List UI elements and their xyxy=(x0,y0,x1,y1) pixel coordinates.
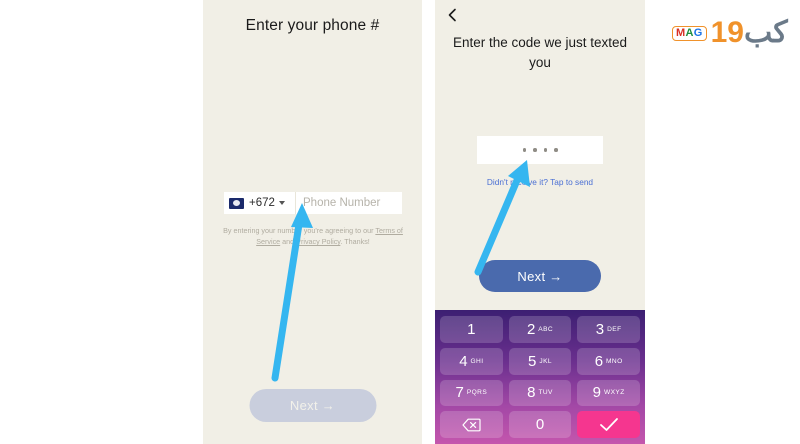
wordmark: کب19 xyxy=(711,18,788,48)
legal-text-part-1: By entering your number you're agreeing … xyxy=(223,226,375,235)
phone-next-button[interactable]: Next → xyxy=(249,389,376,422)
key-letters: WXYZ xyxy=(604,389,625,396)
keypad-backspace-key[interactable] xyxy=(440,411,503,438)
mag-letter-g: G xyxy=(694,27,703,39)
key-digit: 6 xyxy=(595,353,603,370)
numeric-keypad: 1 2 ABC 3 DEF 4 GHI 5 JKL 6 MNO 7 PQRS 8… xyxy=(435,310,645,444)
country-code-selector[interactable]: +672 xyxy=(224,192,296,214)
checkmark-icon xyxy=(599,417,619,432)
verification-code-input[interactable] xyxy=(477,136,603,164)
legal-text-part-3: . Thanks! xyxy=(340,237,369,246)
keypad-key-8[interactable]: 8 TUV xyxy=(509,380,572,407)
key-digit: 9 xyxy=(593,384,601,401)
keypad-confirm-key[interactable] xyxy=(577,411,640,438)
legal-disclaimer: By entering your number you're agreeing … xyxy=(221,225,405,247)
key-letters: ABC xyxy=(538,326,553,333)
keypad-key-4[interactable]: 4 GHI xyxy=(440,348,503,375)
mag-letter-a: A xyxy=(685,27,693,39)
key-letters: PQRS xyxy=(467,389,487,396)
code-next-button[interactable]: Next → xyxy=(479,260,601,292)
keypad-key-1[interactable]: 1 xyxy=(440,316,503,343)
key-letters: MNO xyxy=(606,358,623,365)
mag-badge: MAG xyxy=(672,26,707,41)
key-digit: 3 xyxy=(596,321,604,338)
keypad-key-3[interactable]: 3 DEF xyxy=(577,316,640,343)
legal-text-part-2: and xyxy=(280,237,296,246)
key-digit: 5 xyxy=(528,353,536,370)
verification-code-screen: Enter the code we just texted you Didn't… xyxy=(435,0,645,444)
watermark-logo: MAG کب19 xyxy=(672,18,788,48)
chevron-left-icon[interactable] xyxy=(445,7,461,23)
key-digit: 0 xyxy=(536,416,544,433)
keypad-key-9[interactable]: 9 WXYZ xyxy=(577,380,640,407)
backspace-icon xyxy=(462,418,481,432)
code-dot xyxy=(523,148,527,152)
country-code-label: +672 xyxy=(249,197,275,209)
keypad-key-0[interactable]: 0 xyxy=(509,411,572,438)
code-dot xyxy=(533,148,537,152)
key-digit: 8 xyxy=(527,384,535,401)
phone-number-screen: Enter your phone # +672 Phone Number By … xyxy=(203,0,422,444)
key-letters: GHI xyxy=(471,358,484,365)
code-dot xyxy=(554,148,558,152)
keypad-key-5[interactable]: 5 JKL xyxy=(509,348,572,375)
keypad-key-6[interactable]: 6 MNO xyxy=(577,348,640,375)
code-dot xyxy=(544,148,548,152)
resend-code-link[interactable]: Didn't receive it? Tap to send xyxy=(435,177,645,187)
norfolk-island-flag-icon xyxy=(229,198,244,209)
key-digit: 1 xyxy=(467,321,475,338)
key-letters: TUV xyxy=(538,389,552,396)
phone-number-placeholder: Phone Number xyxy=(303,197,380,209)
key-letters: JKL xyxy=(539,358,552,365)
privacy-policy-link[interactable]: Privacy Policy xyxy=(296,237,340,246)
keypad-key-2[interactable]: 2 ABC xyxy=(509,316,572,343)
page-title: Enter your phone # xyxy=(203,17,422,35)
wordmark-orange: 19 xyxy=(711,16,744,49)
chevron-down-icon xyxy=(279,201,285,205)
phone-entry-row: +672 Phone Number xyxy=(224,192,402,214)
key-digit: 2 xyxy=(527,321,535,338)
keypad-key-7[interactable]: 7 PQRS xyxy=(440,380,503,407)
phone-number-input[interactable]: Phone Number xyxy=(296,192,402,214)
key-digit: 7 xyxy=(456,384,464,401)
page-title: Enter the code we just texted you xyxy=(449,33,631,73)
key-digit: 4 xyxy=(459,353,467,370)
wordmark-gray: کب xyxy=(744,16,788,49)
key-letters: DEF xyxy=(607,326,621,333)
